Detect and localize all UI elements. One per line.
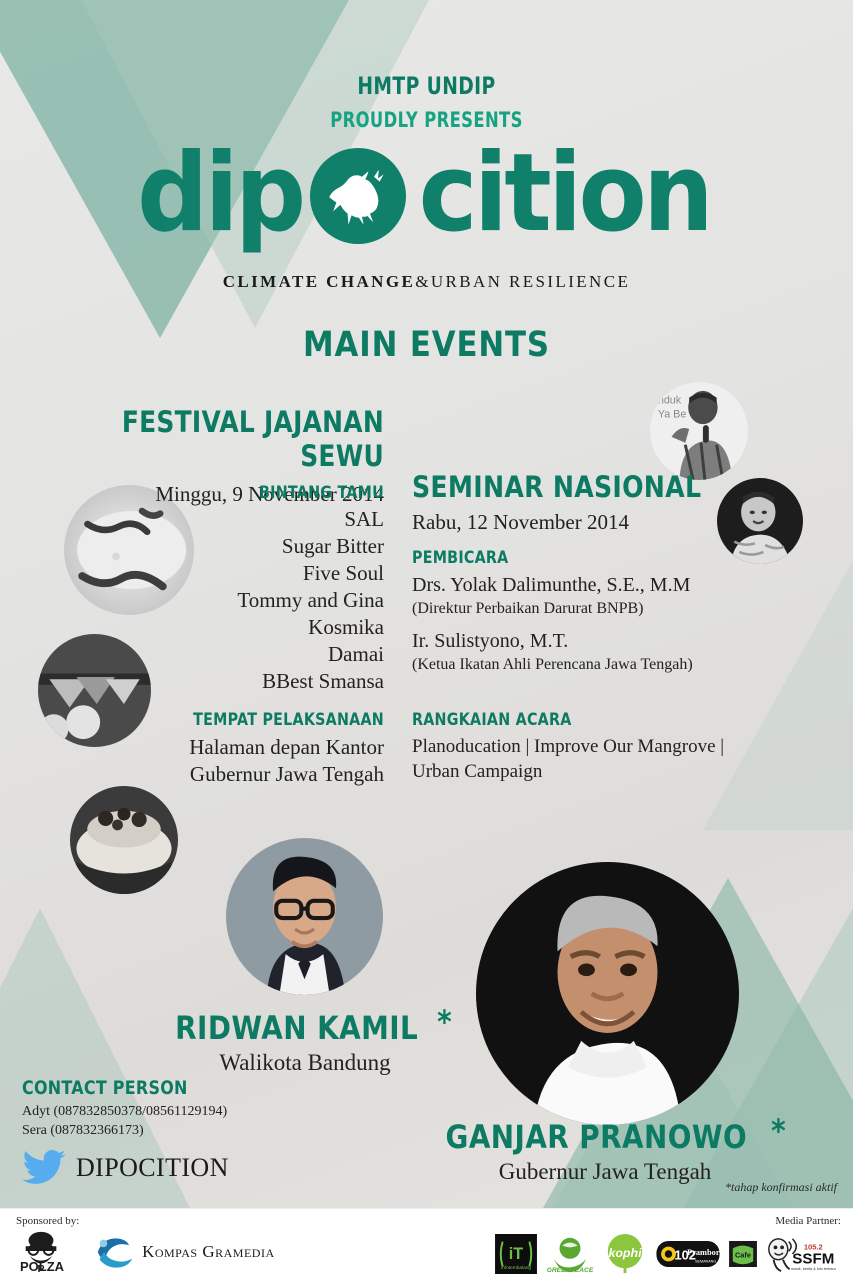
polza-logo-text: POLZA — [20, 1259, 64, 1274]
twitter-handle-row[interactable]: DIPOCITION — [22, 1150, 229, 1186]
media-partner-label: Media Partner: — [775, 1215, 841, 1227]
wordmark-part-2: cition — [419, 140, 710, 248]
seminar-program-section: RANGKAIAN ACARA Planoducation | Improve … — [412, 710, 812, 784]
seminar-title: SEMINAR NASIONAL — [412, 470, 760, 504]
svg-text:Infotembalang: Infotembalang — [501, 1265, 531, 1271]
ridwan-kamil-portrait — [226, 838, 383, 995]
organizer-name: HMTP UNDIP — [94, 72, 759, 100]
speaker-name: Ir. Sulistyono, M.T. — [412, 629, 832, 654]
program-line: Urban Campaign — [412, 759, 812, 784]
contact-section: CONTACT PERSON Adyt (087832850378/085611… — [22, 1077, 229, 1186]
featured-person-role: Walikota Bandung — [150, 1050, 460, 1076]
guest-item: Damai — [0, 641, 384, 668]
sponsored-by-label: Sponsored by: — [16, 1215, 79, 1227]
svg-text:iT: iT — [509, 1245, 523, 1263]
guest-item: Sugar Bitter — [0, 533, 384, 560]
pegasus-horse-icon — [318, 156, 398, 236]
svg-text:nduk: nduk — [658, 395, 682, 407]
festival-guests-section: BINTANG TAMU SAL Sugar Bitter Five Soul … — [0, 483, 384, 695]
kompas-gramedia-logo: Kompas Gramedia — [90, 1231, 275, 1273]
speaker-spacer — [412, 620, 832, 629]
svg-text:Ya Be: Ya Be — [658, 408, 687, 420]
speaker-name: Drs. Yolak Dalimunthe, S.E., M.M — [412, 573, 832, 598]
svg-text:PramborS: PramborS — [687, 1248, 720, 1257]
media-partner-logos-row: iTInfotembalang GREENPEACE kophi 102Pram… — [495, 1233, 836, 1275]
food-photo-3 — [70, 786, 178, 894]
cafe-logo: Cafe — [729, 1241, 757, 1267]
tagline-ampersand: & — [415, 272, 431, 291]
svg-text:musik, berita & info terbaru: musik, berita & info terbaru — [791, 1267, 836, 1271]
contact-line[interactable]: Adyt (087832850378/08561129194) — [22, 1102, 229, 1121]
program-line: Planoducation | Improve Our Mangrove | — [412, 734, 812, 759]
seminar-date: Rabu, 12 November 2014 — [412, 510, 812, 535]
festival-venue-section: TEMPAT PELAKSANAAN Halaman depan Kantor … — [0, 710, 384, 788]
guest-item: Tommy and Gina — [0, 587, 384, 614]
svg-text:SSFM: SSFM — [792, 1250, 834, 1267]
tagline-bold-text: CLIMATE CHANGE — [223, 272, 415, 291]
speaker-role: (Ketua Ikatan Ahli Perencana Jawa Tengah… — [412, 654, 832, 676]
ganjar-pranowo-label: GANJAR PRANOWO* Gubernur Jawa Tengah — [420, 1112, 790, 1185]
tagline-light-text: URBAN RESILIENCE — [431, 272, 630, 291]
featured-person-name: RIDWAN KAMIL — [175, 1009, 418, 1047]
kophi-logo: kophi — [603, 1233, 647, 1275]
kompas-gramedia-text: Kompas Gramedia — [142, 1242, 275, 1262]
ganjar-pranowo-portrait — [476, 862, 739, 1125]
venue-line: Gubernur Jawa Tengah — [0, 761, 384, 788]
featured-person-name: GANJAR PRANOWO — [446, 1118, 748, 1156]
sponsor-logos-row: PZ POLZA Kompas Gramedia — [12, 1229, 275, 1275]
seminar-section: SEMINAR NASIONAL Rabu, 12 November 2014 — [412, 470, 812, 535]
poster-tagline: CLIMATE CHANGE&URBAN RESILIENCE — [0, 272, 853, 292]
confirmation-footnote: *tahap konfirmasi aktif — [725, 1180, 837, 1195]
guest-item: Kosmika — [0, 614, 384, 641]
proudly-presents-label: PROUDLY PRESENTS — [94, 108, 759, 132]
ssfm-radio-logo: 105.2SSFMmusik, berita & info terbaru — [766, 1234, 836, 1274]
guest-item: BBest Smansa — [0, 668, 384, 695]
poster-footer: Sponsored by: Media Partner: PZ POLZA Ko… — [0, 1208, 853, 1280]
confirmation-asterisk: * — [437, 1003, 452, 1041]
poster-header: HMTP UNDIP PROUDLY PRESENTS — [0, 72, 853, 132]
confirmation-asterisk: * — [771, 1112, 786, 1150]
guest-item: Five Soul — [0, 560, 384, 587]
event-wordmark: dipcition — [0, 140, 853, 260]
twitter-icon[interactable] — [22, 1150, 66, 1186]
rangkaian-acara-heading: RANGKAIAN ACARA — [412, 710, 748, 730]
seminar-speakers-section: PEMBICARA Drs. Yolak Dalimunthe, S.E., M… — [412, 548, 832, 676]
polza-logo: PZ POLZA — [12, 1229, 64, 1275]
svg-text:kophi: kophi — [608, 1246, 642, 1260]
infotembalang-logo: iTInfotembalang — [495, 1234, 537, 1274]
event-poster: HMTP UNDIP PROUDLY PRESENTS dipcition CL… — [0, 0, 853, 1280]
speaker-role: (Direktur Perbaikan Darurat BNPB) — [412, 598, 832, 620]
bintang-tamu-heading: BINTANG TAMU — [61, 483, 384, 503]
festival-title: FESTIVAL JAJANAN SEWU — [54, 405, 384, 473]
wordmark-horse-emblem — [310, 148, 406, 244]
speaker-photo-1: ndukYa Be — [650, 382, 748, 480]
twitter-handle-text[interactable]: DIPOCITION — [76, 1153, 229, 1183]
greenpeace-logo: GREENPEACE — [546, 1234, 594, 1274]
venue-line: Halaman depan Kantor — [0, 734, 384, 761]
guest-item: SAL — [0, 506, 384, 533]
svg-text:SEMARANG: SEMARANG — [695, 1259, 716, 1263]
prambors-semarang-logo: 102PramborSSEMARANG — [656, 1241, 720, 1267]
main-events-heading: MAIN EVENTS — [51, 325, 802, 365]
svg-text:GREENPEACE: GREENPEACE — [547, 1267, 594, 1274]
pembicara-heading: PEMBICARA — [412, 548, 765, 568]
tempat-pelaksanaan-heading: TEMPAT PELAKSANAAN — [61, 710, 384, 730]
ridwan-kamil-label: RIDWAN KAMIL* Walikota Bandung — [150, 1003, 460, 1076]
contact-person-heading: CONTACT PERSON — [22, 1077, 196, 1099]
contact-line[interactable]: Sera (087832366173) — [22, 1121, 229, 1140]
svg-text:Cafe: Cafe — [735, 1251, 751, 1260]
wordmark-part-1: dip — [137, 140, 302, 248]
